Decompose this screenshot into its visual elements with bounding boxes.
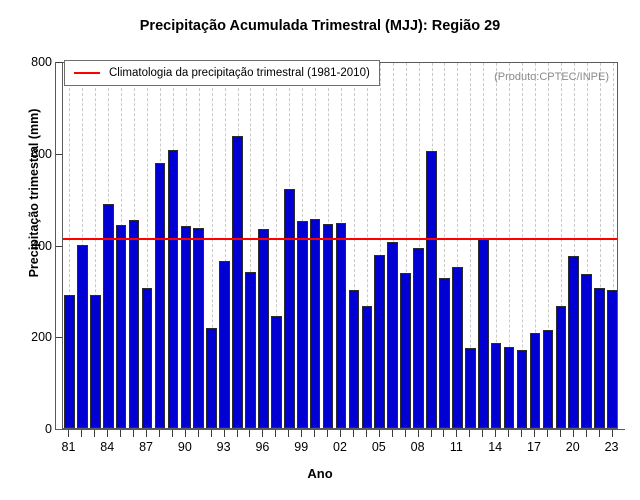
x-axis-tick-mark (288, 430, 289, 437)
plot-area: (Produto:CPTEC/INPE) (62, 62, 618, 429)
legend-label: Climatologia da precipitação trimestral … (109, 67, 370, 79)
x-axis-tick-mark (211, 430, 212, 437)
x-axis-tick-mark (146, 430, 147, 437)
bar (90, 295, 101, 428)
x-axis-tick-mark (340, 430, 341, 437)
x-axis-line (55, 429, 625, 430)
bar (581, 274, 592, 428)
bar (193, 228, 204, 428)
bar (452, 267, 463, 428)
bar (168, 150, 179, 428)
x-axis-tick-label: 93 (217, 440, 231, 454)
bar (374, 255, 385, 428)
x-axis-tick-mark (521, 430, 522, 437)
x-axis-tick-label: 81 (62, 440, 76, 454)
bar (297, 221, 308, 428)
x-axis-tick-label: 08 (411, 440, 425, 454)
bar (556, 306, 567, 428)
bar (258, 229, 269, 428)
bar (568, 256, 579, 428)
bar (181, 226, 192, 428)
bar (349, 290, 360, 428)
bar (491, 343, 502, 428)
x-axis-tick-label: 96 (255, 440, 269, 454)
x-axis-tick-mark (262, 430, 263, 437)
x-axis-tick-mark (392, 430, 393, 437)
x-axis-tick-label: 17 (527, 440, 541, 454)
x-axis-tick-label: 11 (450, 440, 463, 454)
x-axis-tick-mark (275, 430, 276, 437)
bar (336, 223, 347, 428)
x-axis-tick-label: 14 (488, 440, 502, 454)
x-axis-tick-mark (379, 430, 380, 437)
x-axis-tick-mark (573, 430, 574, 437)
climatology-reference-line (63, 238, 617, 240)
x-axis-tick-mark (133, 430, 134, 437)
chart-root: Precipitação Acumulada Trimestral (MJJ):… (0, 0, 640, 500)
y-axis-tick-label: 200 (6, 330, 52, 344)
bar (77, 245, 88, 429)
x-axis-tick-mark (418, 430, 419, 437)
bar (142, 288, 153, 428)
y-axis-line (55, 62, 56, 430)
x-axis-tick-mark (482, 430, 483, 437)
x-axis-tick-mark (249, 430, 250, 437)
bar (530, 333, 541, 428)
y-axis-tick-mark (55, 154, 62, 155)
x-axis-title: Ano (0, 466, 640, 481)
x-axis-tick-mark (469, 430, 470, 437)
bar (426, 151, 437, 428)
y-axis-tick-label: 0 (6, 422, 52, 436)
x-axis-tick-mark (107, 430, 108, 437)
x-axis-tick-mark (456, 430, 457, 437)
x-axis-tick-mark (534, 430, 535, 437)
x-axis-tick-mark (366, 430, 367, 437)
bar (478, 239, 489, 428)
x-axis-tick-mark (301, 430, 302, 437)
legend: Climatologia da precipitação trimestral … (64, 60, 380, 86)
x-axis-tick-mark (405, 430, 406, 437)
x-axis-tick-label: 05 (372, 440, 386, 454)
bar (206, 328, 217, 428)
x-axis-tick-mark (508, 430, 509, 437)
bar (271, 316, 282, 428)
legend-line-swatch (74, 72, 100, 74)
x-axis-tick-mark (81, 430, 82, 437)
x-axis-tick-mark (599, 430, 600, 437)
x-axis-tick-mark (547, 430, 548, 437)
bar (129, 220, 140, 428)
bar (232, 136, 243, 428)
x-axis-tick-mark (172, 430, 173, 437)
page-title: Precipitação Acumulada Trimestral (MJJ):… (0, 18, 640, 34)
x-axis-tick-mark (353, 430, 354, 437)
bar (400, 273, 411, 428)
bar (245, 272, 256, 428)
bar (439, 278, 450, 428)
x-axis-tick-mark (495, 430, 496, 437)
x-axis-tick-mark (443, 430, 444, 437)
x-axis-tick-mark (120, 430, 121, 437)
bar (116, 225, 127, 428)
x-axis-tick-mark (327, 430, 328, 437)
y-axis-tick-labels: 0200400600800 (0, 0, 52, 500)
y-axis-tick-mark (55, 62, 62, 63)
bar (219, 261, 230, 428)
y-axis-tick-label: 800 (6, 55, 52, 69)
x-axis-tick-mark (314, 430, 315, 437)
bar (362, 306, 373, 428)
producer-annotation: (Produto:CPTEC/INPE) (494, 71, 609, 83)
bar (607, 290, 618, 428)
bar (504, 347, 515, 428)
x-axis-tick-mark (224, 430, 225, 437)
bar (517, 350, 528, 428)
x-axis-tick-mark (94, 430, 95, 437)
x-axis-tick-mark (586, 430, 587, 437)
x-axis-tick-mark (560, 430, 561, 437)
x-axis-tick-label: 99 (294, 440, 308, 454)
x-axis-tick-mark (185, 430, 186, 437)
x-axis-tick-mark (431, 430, 432, 437)
x-axis-tick-mark (198, 430, 199, 437)
bar (284, 189, 295, 428)
x-axis-tick-mark (612, 430, 613, 437)
y-axis-tick-mark (55, 337, 62, 338)
x-axis-tick-label: 20 (566, 440, 580, 454)
bar (465, 348, 476, 428)
x-axis-tick-mark (159, 430, 160, 437)
bar (64, 295, 75, 428)
x-axis-tick-label: 84 (100, 440, 114, 454)
bar (310, 219, 321, 428)
bar (323, 224, 334, 428)
bar (594, 288, 605, 428)
bar (155, 163, 166, 428)
x-axis-tick-mark (237, 430, 238, 437)
x-axis-tick-label: 87 (139, 440, 153, 454)
y-axis-tick-mark (55, 246, 62, 247)
x-axis-tick-label: 23 (605, 440, 619, 454)
bar (543, 330, 554, 428)
x-axis-tick-mark (68, 430, 69, 437)
bar (413, 248, 424, 428)
x-axis-tick-label: 90 (178, 440, 192, 454)
bar (387, 242, 398, 428)
y-axis-title: Precipitação trimestral (mm) (27, 73, 41, 313)
x-axis-tick-label: 02 (333, 440, 347, 454)
